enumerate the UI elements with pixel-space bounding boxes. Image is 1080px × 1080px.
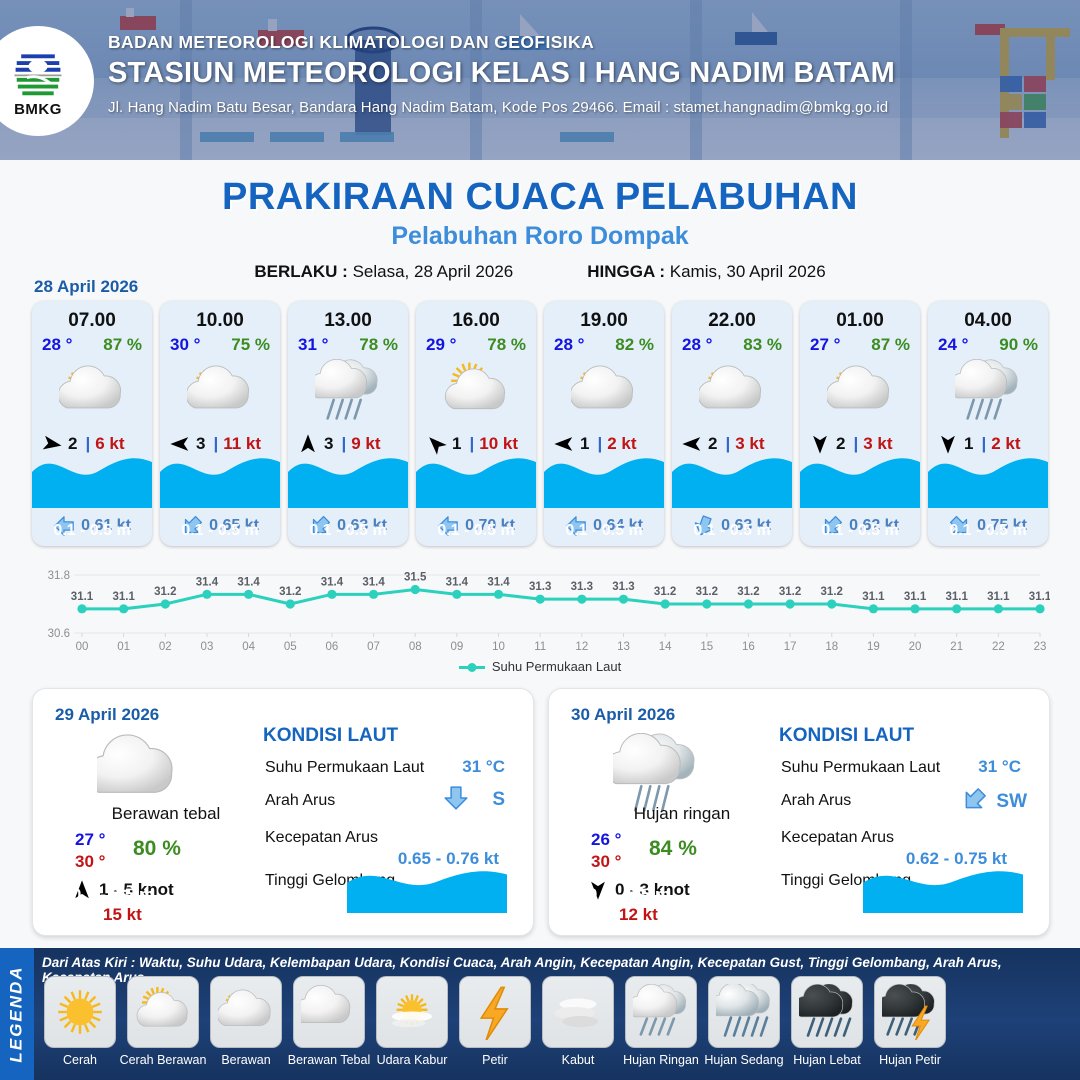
legend-item: Kabut [538,976,618,1067]
forecast-card: 07.00 28 ° 87 % 2 | 6 kt 0.1 - 0.5 m 0.6… [32,301,152,546]
station-address: Jl. Hang Nadim Batu Besar, Bandara Hang … [108,99,895,116]
svg-text:31.2: 31.2 [779,586,801,598]
legend-item-label: Berawan [221,1053,270,1067]
valid-to-label: HINGGA : [587,262,665,281]
legend-side-label: LEGENDA [0,948,34,1080]
panel-current-dir-label: Arah Arus [265,792,335,810]
svg-text:31.1: 31.1 [71,591,94,603]
panel-condition: Hujan ringan [587,804,777,824]
legend-cerah-berawan-icon [127,976,199,1048]
svg-text:31.2: 31.2 [279,586,301,598]
legend-icon-list: Cerah Cerah Berawan Berawan Berawan Teba… [40,976,950,1067]
svg-text:31.3: 31.3 [571,581,593,593]
legend-udara-kabur-icon [376,976,448,1048]
svg-text:31.2: 31.2 [696,586,718,598]
bmkg-logo-text: BMKG [14,101,62,118]
card-humidity: 78 % [487,335,526,355]
wave-height-value: 0.1 - 0.5 m [160,522,280,540]
card-humidity: 82 % [615,335,654,355]
panel-humidity: 84 % [649,837,697,861]
svg-text:31.3: 31.3 [529,581,551,593]
wave-height-value: 0.1 - 0.5 m [672,522,792,540]
svg-text:09: 09 [450,641,463,653]
card-time: 13.00 [288,310,408,332]
wave-height-value: 0.1 - 0.5 m [32,522,152,540]
svg-text:31.4: 31.4 [237,576,260,588]
wave-height-value: 0.1 - 0.5 m [544,522,664,540]
wave-graphic [544,446,664,508]
svg-text:31.2: 31.2 [154,586,176,598]
panel-condition: Berawan tebal [71,804,261,824]
card-time: 22.00 [672,310,792,332]
svg-text:08: 08 [409,641,422,653]
legend-item: Petir [455,976,535,1067]
legend-kabut-icon [542,976,614,1048]
card-temp-hum-row: 30 ° 75 % [160,332,280,355]
legend-cerah-icon [44,976,116,1048]
wave-height-value: 0.1 - 0.5 m [800,522,920,540]
legend-berawan-tebal-icon [293,976,365,1048]
svg-text:02: 02 [159,641,172,653]
panel-temp-max: 30 ° [591,852,621,872]
wave-height-value: 0.1 - 0.5 m [288,522,408,540]
card-time: 01.00 [800,310,920,332]
wave-graphic [160,446,280,508]
card-temperature: 27 ° [810,335,840,355]
legend-item: Hujan Petir [870,976,950,1067]
page-header: BMKG BADAN METEOROLOGI KLIMATOLOGI DAN G… [0,0,1080,160]
panel-sst-label: Suhu Permukaan Laut [781,759,940,777]
legend-item-label: Petir [482,1053,508,1067]
svg-text:22: 22 [992,641,1005,653]
legend-item-label: Udara Kabur [377,1053,448,1067]
svg-text:31.1: 31.1 [987,591,1010,603]
valid-to: HINGGA : Kamis, 30 April 2026 [587,262,825,282]
valid-from-value: Selasa, 28 April 2026 [353,262,514,281]
svg-text:31.2: 31.2 [737,586,759,598]
legend-hujan-lebat-icon [791,976,863,1048]
forecast-card: 19.00 28 ° 82 % 1 | 2 kt 0.1 - 0.5 m 0.6… [544,301,664,546]
legend-item-label: Cerah [63,1053,97,1067]
hourly-forecast-cards: 07.00 28 ° 87 % 2 | 6 kt 0.1 - 0.5 m 0.6… [32,301,1048,546]
chart-legend: Suhu Permukaan Laut [30,659,1050,674]
forecast-card: 16.00 29 ° 78 % 1 | 10 kt 0.1 - 0.5 m 0.… [416,301,536,546]
svg-text:31.5: 31.5 [404,572,427,584]
station-name: STASIUN METEOROLOGI KELAS I HANG NADIM B… [108,57,895,90]
valid-to-value: Kamis, 30 April 2026 [670,262,826,281]
weather-hujan-ringan-icon [288,357,408,427]
daily-summary-panels: 29 April 2026 Berawan tebal 27 ° 30 ° 80… [32,688,1050,936]
svg-text:14: 14 [659,641,672,653]
sst-chart: 31.830.600010203040506070809101112131415… [30,563,1050,675]
card-temperature: 29 ° [426,335,456,355]
card-temp-hum-row: 24 ° 90 % [928,332,1048,355]
svg-text:31.4: 31.4 [321,576,344,588]
svg-text:20: 20 [909,641,922,653]
svg-text:31.1: 31.1 [862,591,885,603]
svg-text:31.1: 31.1 [112,591,135,603]
svg-text:31.4: 31.4 [362,576,385,588]
legend-item: Berawan Tebal [289,976,369,1067]
wave-graphic [416,446,536,508]
legend-item: Udara Kabur [372,976,452,1067]
card-temp-hum-row: 28 ° 87 % [32,332,152,355]
svg-text:19: 19 [867,641,880,653]
card-temperature: 30 ° [170,335,200,355]
wave-height-value: 0.1 - 0.5 m [928,522,1048,540]
card-temperature: 28 ° [42,335,72,355]
legend-strip: LEGENDA Dari Atas Kiri : Waktu, Suhu Uda… [0,948,1080,1080]
panel-sst-value: 31 °C [462,757,505,777]
weather-berawan-icon [672,357,792,427]
svg-text:00: 00 [76,641,89,653]
svg-text:15: 15 [700,641,713,653]
page-subtitle: Pelabuhan Roro Dompak [0,222,1080,251]
svg-text:03: 03 [201,641,214,653]
card-humidity: 78 % [359,335,398,355]
wave-graphic [288,446,408,508]
legend-item-label: Hujan Lebat [793,1053,860,1067]
legend-item: Cerah Berawan [123,976,203,1067]
legend-item-label: Hujan Sedang [704,1053,783,1067]
svg-text:31.2: 31.2 [821,586,843,598]
panel-date: 29 April 2026 [55,705,159,725]
forecast-card: 01.00 27 ° 87 % 2 | 3 kt 0.1 - 0.5 m 0.6… [800,301,920,546]
svg-text:31.2: 31.2 [654,586,676,598]
legend-item-label: Cerah Berawan [120,1053,207,1067]
valid-from-label: BERLAKU : [254,262,348,281]
svg-text:07: 07 [367,641,380,653]
svg-text:23: 23 [1034,641,1047,653]
weather-berawan-icon [544,357,664,427]
panel-current-speed-label: Kecepatan Arus [781,829,894,847]
panel-current-direction-arrow-icon [443,785,469,811]
chart-legend-label: Suhu Permukaan Laut [492,659,621,674]
card-humidity: 87 % [871,335,910,355]
panel-current-dir-value: SW [996,791,1027,813]
panel-humidity: 80 % [133,837,181,861]
legend-hujan-petir-icon [874,976,946,1048]
validity-row: BERLAKU : Selasa, 28 April 2026 HINGGA :… [0,262,1080,282]
forecast-card: 10.00 30 ° 75 % 3 | 11 kt 0.1 - 0.5 m 0.… [160,301,280,546]
legend-hujan-sedang-icon [708,976,780,1048]
card-temperature: 28 ° [554,335,584,355]
svg-text:31.8: 31.8 [48,570,70,582]
wave-graphic [32,446,152,508]
forecast-day-label: 28 April 2026 [34,277,138,297]
card-temp-hum-row: 31 ° 78 % [288,332,408,355]
weather-berawan-icon [160,357,280,427]
panel-wave-value: 0.1 - 0.5 m [549,885,709,905]
svg-text:05: 05 [284,641,297,653]
card-temperature: 24 ° [938,335,968,355]
wave-graphic [800,446,920,508]
svg-text:31.1: 31.1 [904,591,927,603]
legend-item-label: Kabut [562,1053,595,1067]
chart-legend-swatch [459,661,485,672]
card-humidity: 87 % [103,335,142,355]
legend-item: Hujan Ringan [621,976,701,1067]
panel-wave-graphic [863,861,1023,913]
legend-hujan-ringan-icon [625,976,697,1048]
card-humidity: 90 % [999,335,1038,355]
panel-wave-value: 0.1 - 0.5 m [33,885,193,905]
card-temp-hum-row: 28 ° 83 % [672,332,792,355]
forecast-card: 22.00 28 ° 83 % 2 | 3 kt 0.1 - 0.5 m 0.6… [672,301,792,546]
legend-item: Cerah [40,976,120,1067]
card-time: 16.00 [416,310,536,332]
panel-temp-min: 27 ° [75,830,105,850]
panel-temp-max: 30 ° [75,852,105,872]
card-temp-hum-row: 28 ° 82 % [544,332,664,355]
card-temperature: 28 ° [682,335,712,355]
panel-current-speed-label: Kecepatan Arus [265,829,378,847]
svg-text:31.4: 31.4 [487,576,510,588]
card-humidity: 75 % [231,335,270,355]
weather-berawan-icon [800,357,920,427]
forecast-card: 04.00 24 ° 90 % 1 | 2 kt 0.1 - 0.5 m [928,301,1048,546]
svg-text:30.6: 30.6 [48,628,70,640]
wave-height-value: 0.1 - 0.5 m [416,522,536,540]
agency-name: BADAN METEOROLOGI KLIMATOLOGI DAN GEOFIS… [108,32,895,53]
card-temp-hum-row: 29 ° 78 % [416,332,536,355]
legend-item: Hujan Lebat [787,976,867,1067]
panel-date: 30 April 2026 [571,705,675,725]
legend-item: Berawan [206,976,286,1067]
panel-current-dir-value: S [492,789,505,811]
svg-text:21: 21 [950,641,963,653]
legend-item: Hujan Sedang [704,976,784,1067]
card-time: 04.00 [928,310,1048,332]
legend-berawan-icon [210,976,282,1048]
weather-hujan-ringan-icon [928,357,1048,427]
weather-cerah-berawan-icon [416,357,536,427]
svg-text:18: 18 [825,641,838,653]
svg-text:04: 04 [242,641,255,653]
svg-text:01: 01 [117,641,130,653]
wave-graphic [928,446,1048,508]
svg-text:31.4: 31.4 [446,576,469,588]
weather-berawan-icon [32,357,152,427]
panel-temp-min: 26 ° [591,830,621,850]
panel-gust-value: 15 kt [103,905,142,925]
panel-sst-value: 31 °C [978,757,1021,777]
panel-sea-title: KONDISI LAUT [779,725,914,747]
panel-sea-title: KONDISI LAUT [263,725,398,747]
valid-from: BERLAKU : Selasa, 28 April 2026 [254,262,513,282]
page-title: PRAKIRAAN CUACA PELABUHAN [0,176,1080,219]
card-humidity: 83 % [743,335,782,355]
panel-current-dir-label: Arah Arus [781,792,851,810]
svg-text:31.3: 31.3 [612,581,634,593]
legend-item-label: Hujan Petir [879,1053,941,1067]
card-time: 07.00 [32,310,152,332]
svg-text:31.1: 31.1 [946,591,969,603]
daily-summary-panel: 29 April 2026 Berawan tebal 27 ° 30 ° 80… [32,688,534,936]
panel-current-direction-arrow-icon [961,787,987,813]
panel-sst-label: Suhu Permukaan Laut [265,759,424,777]
svg-text:31.1: 31.1 [1029,591,1050,603]
daily-summary-panel: 30 April 2026 Hujan ringan 26 ° 30 ° 84 … [548,688,1050,936]
panel-wave-graphic [347,861,507,913]
svg-text:16: 16 [742,641,755,653]
card-time: 19.00 [544,310,664,332]
panel-gust-value: 12 kt [619,905,658,925]
svg-text:31.4: 31.4 [196,576,219,588]
card-temperature: 31 ° [298,335,328,355]
card-temp-hum-row: 27 ° 87 % [800,332,920,355]
bmkg-logo-icon [9,44,67,100]
svg-text:17: 17 [784,641,797,653]
forecast-card: 13.00 31 ° 78 % 3 | 9 kt 0.1 - 0.5 m [288,301,408,546]
header-text-block: BADAN METEOROLOGI KLIMATOLOGI DAN GEOFIS… [108,32,895,116]
wave-graphic [672,446,792,508]
legend-petir-icon [459,976,531,1048]
svg-text:11: 11 [534,641,546,653]
svg-text:06: 06 [326,641,339,653]
legend-side-text: LEGENDA [7,965,27,1062]
card-time: 10.00 [160,310,280,332]
legend-item-label: Berawan Tebal [288,1053,370,1067]
legend-item-label: Hujan Ringan [623,1053,699,1067]
svg-text:13: 13 [617,641,630,653]
svg-text:10: 10 [492,641,505,653]
sst-chart-svg: 31.830.600010203040506070809101112131415… [30,563,1050,659]
svg-text:12: 12 [575,641,588,653]
